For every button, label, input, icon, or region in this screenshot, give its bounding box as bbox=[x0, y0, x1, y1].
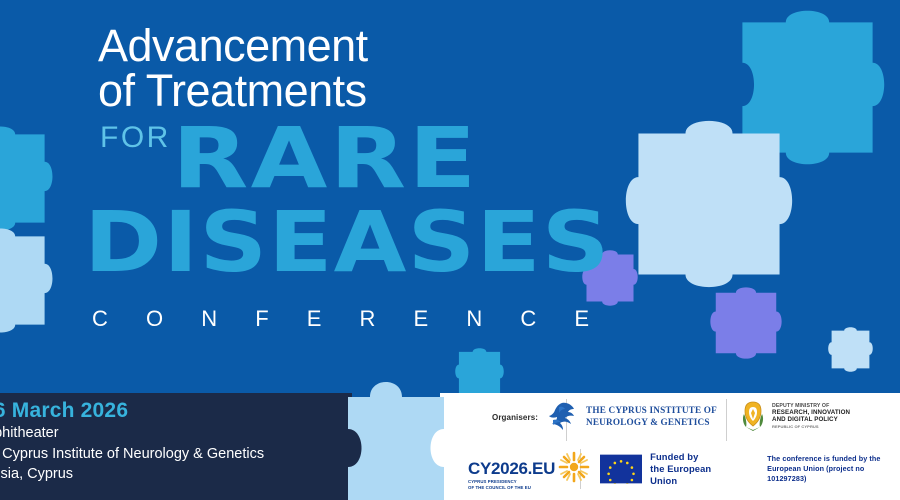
cy2026-main: CY2026.EU bbox=[468, 460, 555, 477]
conference-banner: Advancement of Treatments FOR RARE DISEA… bbox=[0, 0, 900, 500]
organisers-label: Organisers: bbox=[492, 413, 538, 422]
puzzle-piece-band-teal bbox=[455, 348, 504, 397]
conference-word: C O N F E R E N C E bbox=[92, 306, 605, 332]
logo-area: Organisers: THE CYPRUS INSTITUTE OF NEUR… bbox=[440, 393, 900, 500]
cing-line-2: NEUROLOGY & GENETICS bbox=[586, 417, 717, 429]
puzzle-piece-center-light bbox=[626, 121, 792, 287]
puzzle-piece-bottom-right-light bbox=[828, 327, 873, 372]
ministry-line-2: RESEARCH, INNOVATION bbox=[772, 409, 850, 416]
ministry-row: DEPUTY MINISTRY OF RESEARCH, INNOVATION … bbox=[740, 400, 850, 432]
venue-line-1: mphitheater bbox=[0, 423, 362, 444]
puzzle-piece-left-light bbox=[0, 229, 52, 333]
sunburst-icon bbox=[557, 450, 591, 484]
puzzle-piece-bottom-purple bbox=[710, 287, 781, 358]
dove-icon bbox=[547, 401, 577, 433]
ministry-line-4: REPUBLIC OF CYPRUS bbox=[772, 424, 850, 430]
venue-line-3: icosia, Cyprus bbox=[0, 464, 362, 485]
venue-block: –6 March 2026 mphitheater he Cyprus Inst… bbox=[0, 398, 362, 485]
eu-note-line-2: European Union (project no 101297283) bbox=[767, 464, 900, 484]
diseases-word: DISEASES bbox=[84, 208, 611, 277]
divider-ministry bbox=[726, 399, 727, 441]
eu-funding-row: Funded by the European Union The confere… bbox=[600, 451, 900, 487]
title-line-1: Advancement bbox=[98, 24, 598, 69]
puzzle-piece-top-right-teal bbox=[742, 11, 884, 164]
eu-funded-line-2: the European Union bbox=[650, 463, 737, 487]
cy2026-sub: CYPRUS PRESIDENCY OF THE COUNCIL OF THE … bbox=[468, 479, 555, 490]
ministry-line-3: AND DIGITAL POLICY bbox=[772, 416, 850, 423]
venue-line-2: he Cyprus Institute of Neurology & Genet… bbox=[0, 444, 362, 465]
eu-flag-icon bbox=[600, 454, 642, 484]
cyprus-coat-of-arms-icon bbox=[740, 400, 766, 432]
event-date: –6 March 2026 bbox=[0, 398, 362, 423]
eu-note-line-1: The conference is funded by the bbox=[767, 454, 900, 464]
headline-block: Advancement of Treatments FOR bbox=[98, 24, 598, 153]
eu-funded-line-1: Funded by bbox=[650, 451, 737, 463]
puzzle-piece-left-teal bbox=[0, 127, 52, 231]
cy2026-row: CY2026.EU CYPRUS PRESIDENCY OF THE COUNC… bbox=[468, 450, 591, 492]
cy2026-sub-line-2: OF THE COUNCIL OF THE EU bbox=[468, 485, 555, 490]
eu-funding-note: The conference is funded by the European… bbox=[767, 454, 900, 484]
cing-line-1: THE CYPRUS INSTITUTE OF bbox=[586, 405, 717, 417]
ministry-name: DEPUTY MINISTRY OF RESEARCH, INNOVATION … bbox=[772, 403, 850, 430]
title-line-2: of Treatments bbox=[98, 69, 598, 114]
eu-funded-text: Funded by the European Union bbox=[650, 451, 737, 487]
organisers-row: Organisers: THE CYPRUS INSTITUTE OF NEUR… bbox=[492, 401, 717, 433]
cing-name: THE CYPRUS INSTITUTE OF NEUROLOGY & GENE… bbox=[586, 405, 717, 429]
for-word: FOR bbox=[100, 123, 598, 153]
